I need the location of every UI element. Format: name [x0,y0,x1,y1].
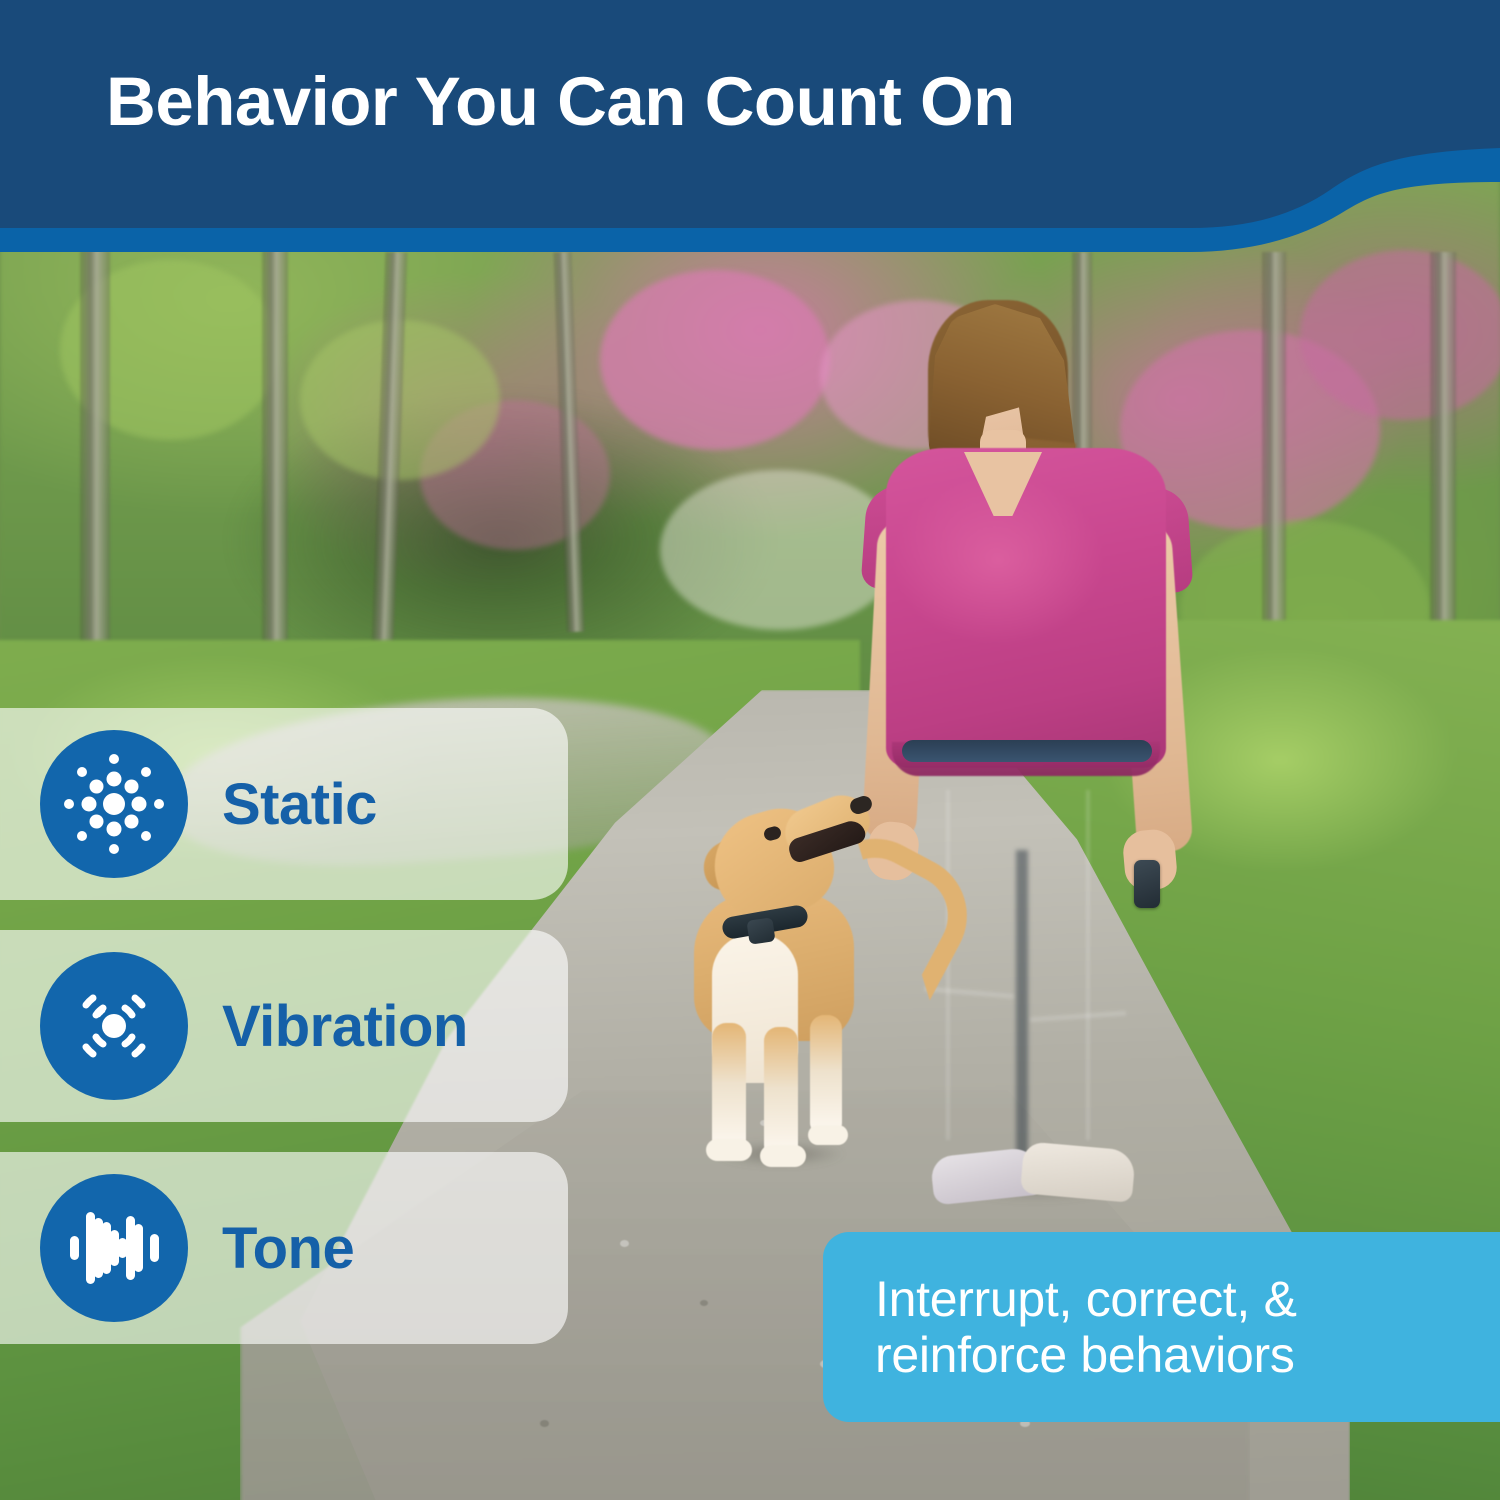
feature-badge-tone: Tone [0,1152,568,1344]
collar-receiver [746,917,775,944]
dog-paw [760,1145,806,1167]
gravel-speck [620,1240,629,1247]
dog-paw [706,1139,752,1161]
callout-line-1: Interrupt, correct, & [875,1271,1500,1328]
tone-waveform-icon [40,1174,188,1322]
tree-trunk [262,250,288,690]
feature-badge-static: Static [0,708,568,900]
dog-leg [810,1015,842,1133]
marketing-image: Behavior You Can Count On Static [0,0,1500,1500]
feature-label-vibration: Vibration [222,993,468,1060]
jeans-waistband [902,740,1152,762]
callout-line-2: reinforce behaviors [875,1327,1500,1384]
feature-label-static: Static [222,771,377,838]
gravel-speck [540,1420,549,1427]
tree-trunk [1430,252,1456,672]
jeans-seam [1086,790,1090,1140]
blossom-cluster [600,270,830,450]
static-burst-icon [40,730,188,878]
leg-separation [1016,850,1028,1160]
callout-banner: Interrupt, correct, & reinforce behavior… [823,1232,1500,1422]
feature-label-tone: Tone [222,1215,354,1282]
pink-tshirt [886,448,1166,768]
gravel-speck [700,1300,708,1306]
blossom-cluster [1300,250,1500,420]
dog-figure [660,775,940,1195]
vibration-waves-icon [40,952,188,1100]
page-title: Behavior You Can Count On [106,62,1015,141]
feature-badge-vibration: Vibration [0,930,568,1122]
dog-leg [712,1023,746,1149]
shoe-right [1020,1141,1136,1203]
dog-paw [808,1125,848,1145]
tree-trunk [1262,252,1286,632]
dog-leg [764,1027,798,1155]
